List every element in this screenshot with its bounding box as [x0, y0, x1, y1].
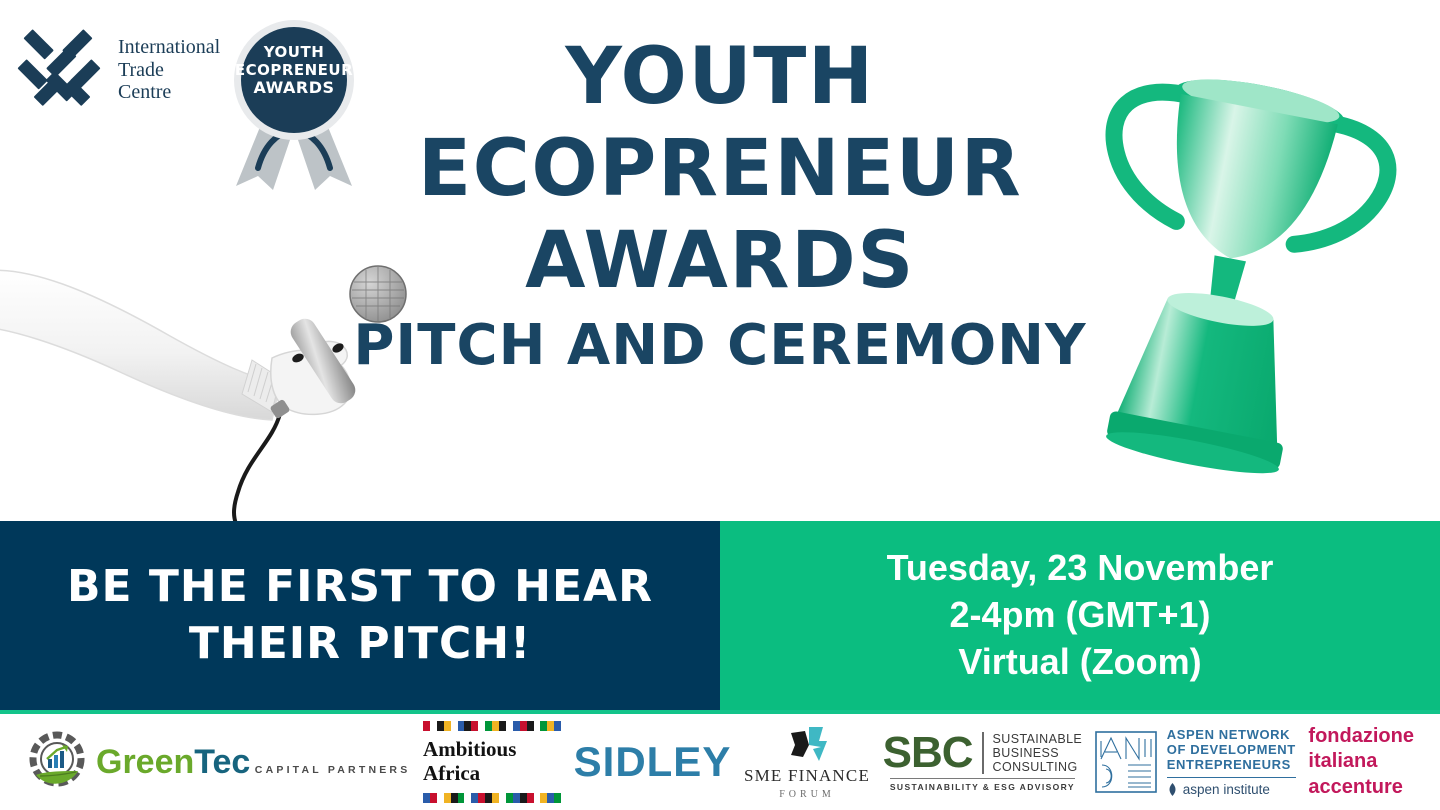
- ambitious-africa-color-bars-bottom-icon: [423, 793, 561, 803]
- callout-line-2: THEIR PITCH!: [189, 616, 531, 672]
- sponsor-logo-sidley: SIDLEY: [574, 721, 732, 803]
- ande-word-2: OF DEVELOPMENT: [1167, 742, 1296, 757]
- itc-logo: International Trade Centre: [16, 20, 216, 120]
- sbc-word-2: BUSINESS: [993, 746, 1083, 760]
- ande-wordmark: ASPEN NETWORK OF DEVELOPMENT ENTREPRENEU…: [1167, 727, 1296, 798]
- accenture-line-1: fondazione: [1308, 724, 1414, 750]
- greentec-name-part2: Tec: [194, 743, 250, 781]
- itc-logo-mark-icon: [16, 24, 108, 116]
- headline-subtitle: PITCH AND CEREMONY: [330, 318, 1110, 374]
- sbc-logo-row: SBC SUSTAINABLE BUSINESS CONSULTING: [883, 732, 1083, 774]
- ande-aspen-institute-row: aspen institute: [1167, 777, 1296, 798]
- itc-word-line-1: International: [118, 36, 220, 58]
- ande-word-3: ENTREPRENEURS: [1167, 757, 1296, 772]
- headline-line-2: ECOPRENEUR: [330, 130, 1110, 208]
- sbc-full-name: SUSTAINABLE BUSINESS CONSULTING: [982, 732, 1083, 774]
- sbc-word-1: SUSTAINABLE: [993, 732, 1083, 746]
- ambitious-africa-line-2: Africa: [423, 762, 516, 786]
- ambitious-africa-color-bars-top-icon: [423, 721, 561, 731]
- sme-finance-forum-subname: FORUM: [779, 789, 835, 800]
- sponsor-logo-sbc: SBC SUSTAINABLE BUSINESS CONSULTING SUST…: [883, 721, 1083, 803]
- poster-canvas: International Trade Centre YOUTH ECOPREN…: [0, 0, 1440, 810]
- sbc-tagline: SUSTAINABILITY & ESG ADVISORY: [890, 778, 1075, 792]
- ambitious-africa-wordmark: Ambitious Africa: [423, 738, 516, 785]
- itc-word-line-2: Trade: [118, 59, 220, 81]
- aspen-leaf-icon: [1167, 783, 1178, 796]
- ande-monogram-icon: [1095, 731, 1157, 793]
- callout-banner-navy: BE THE FIRST TO HEAR THEIR PITCH!: [0, 521, 720, 710]
- greentec-wordmark: GreenTec CAPITAL PARTNERS: [96, 745, 410, 779]
- callout-line-1: BE THE FIRST TO HEAR: [67, 559, 653, 615]
- accenture-line-3: accenture: [1308, 775, 1403, 801]
- headline-line-3: AWARDS: [330, 222, 1110, 300]
- sponsor-logo-greentec: GreenTec CAPITAL PARTNERS: [26, 721, 410, 803]
- event-details-text: Tuesday, 23 November 2-4pm (GMT+1) Virtu…: [720, 521, 1440, 710]
- sponsor-logo-strip: GreenTec CAPITAL PARTNERS Ambitious Afri…: [0, 714, 1440, 810]
- sme-finance-forum-mark-icon: [779, 725, 835, 763]
- sme-finance-forum-name: SME FINANCE: [744, 766, 870, 786]
- event-details-banner-green: Tuesday, 23 November 2-4pm (GMT+1) Virtu…: [720, 521, 1440, 710]
- greentec-name-part1: Green: [96, 743, 194, 781]
- sponsor-logo-sme-finance-forum: SME FINANCE FORUM: [744, 721, 870, 803]
- sponsor-logo-ande: ASPEN NETWORK OF DEVELOPMENT ENTREPRENEU…: [1095, 721, 1296, 803]
- aspen-institute-name: aspen institute: [1183, 782, 1270, 798]
- greentec-gear-leaf-icon: [26, 731, 88, 793]
- event-location: Virtual (Zoom): [958, 639, 1201, 686]
- accenture-line-2: italiana: [1308, 749, 1377, 775]
- itc-word-line-3: Centre: [118, 81, 220, 103]
- event-time: 2-4pm (GMT+1): [949, 592, 1210, 639]
- sponsor-logo-ambitious-africa: Ambitious Africa: [423, 721, 561, 803]
- page-title: YOUTH ECOPRENEUR AWARDS PITCH AND CEREMO…: [330, 38, 1110, 374]
- sidley-wordmark: SIDLEY: [574, 738, 732, 786]
- itc-logo-wordmark: International Trade Centre: [118, 36, 220, 103]
- sbc-acronym: SBC: [883, 733, 973, 773]
- greentec-tagline: CAPITAL PARTNERS: [255, 764, 411, 776]
- event-date: Tuesday, 23 November: [887, 545, 1274, 592]
- ambitious-africa-line-1: Ambitious: [423, 738, 516, 762]
- greentec-name: GreenTec: [96, 743, 250, 781]
- sbc-word-3: CONSULTING: [993, 760, 1083, 774]
- callout-text: BE THE FIRST TO HEAR THEIR PITCH!: [0, 521, 720, 710]
- ande-word-1: ASPEN NETWORK: [1167, 727, 1296, 742]
- headline-line-1: YOUTH: [330, 38, 1110, 116]
- sponsor-logo-fondazione-italiana-accenture: fondazione italiana accenture: [1308, 721, 1414, 803]
